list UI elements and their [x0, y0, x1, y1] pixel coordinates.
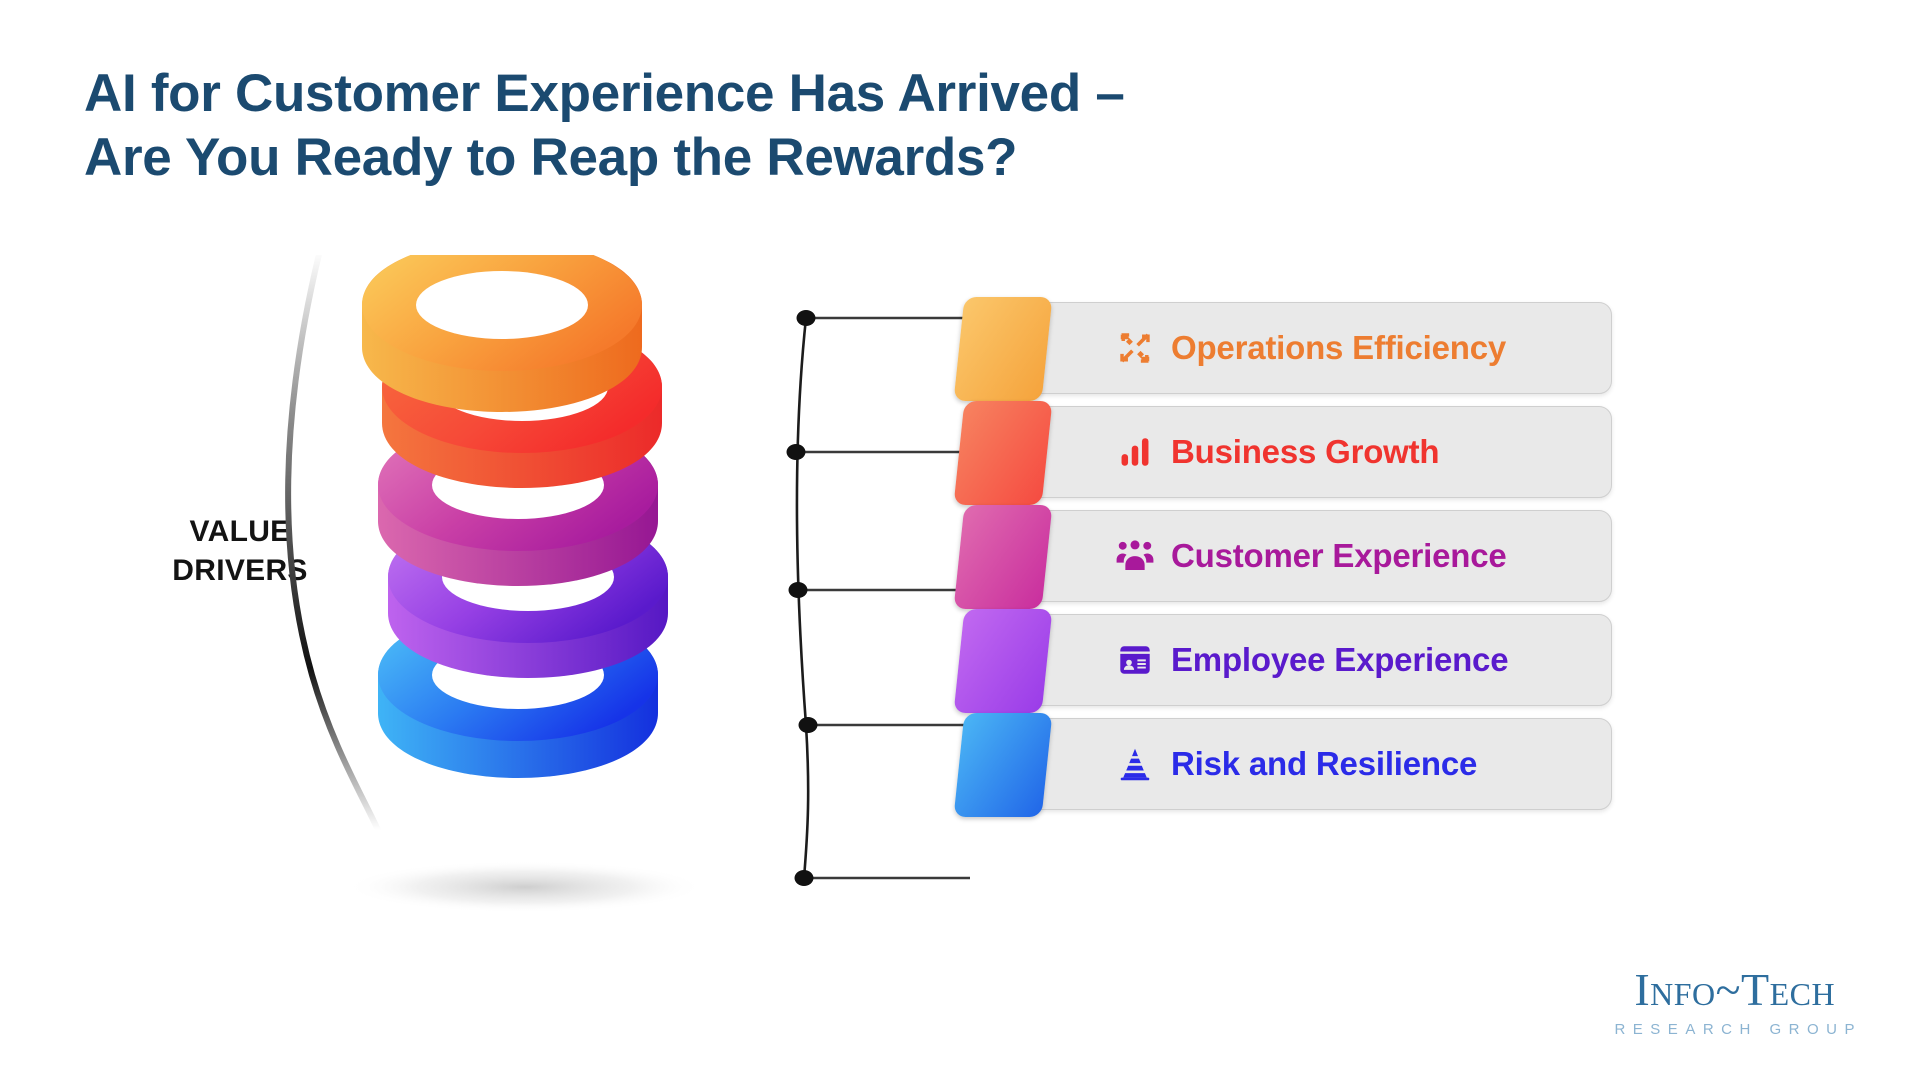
card-color-tab [954, 713, 1053, 817]
card-label: Business Growth [1171, 433, 1439, 471]
connector-dot-3 [789, 582, 808, 598]
card-label: Employee Experience [1171, 641, 1508, 679]
value-driver-card-business-growth[interactable]: Business Growth [992, 406, 1612, 498]
value-driver-card-employee-experience[interactable]: Employee Experience [992, 614, 1612, 706]
ring-orange [362, 255, 642, 412]
users-group-icon [1115, 536, 1155, 576]
card-label: Operations Efficiency [1171, 329, 1506, 367]
card-color-tab [954, 297, 1053, 401]
sync-arrows-icon [1115, 328, 1155, 368]
card-color-tab [954, 505, 1053, 609]
bar-chart-icon [1115, 432, 1155, 472]
value-driver-card-risk-and-resilience[interactable]: Risk and Resilience [992, 718, 1612, 810]
value-driver-card-list: Operations Efficiency Business Growth [956, 302, 1616, 922]
card-label: Customer Experience [1171, 537, 1507, 575]
logo-tagline: RESEARCH GROUP [1607, 1021, 1862, 1038]
page-title: AI for Customer Experience Has Arrived –… [84, 62, 1424, 189]
traffic-cone-icon [1115, 744, 1155, 784]
value-driver-card-customer-experience[interactable]: Customer Experience [992, 510, 1612, 602]
card-color-tab [954, 609, 1053, 713]
id-badge-icon [1115, 640, 1155, 680]
card-color-tab [954, 401, 1053, 505]
connector-spine [797, 318, 808, 878]
connector-dot-5 [795, 870, 814, 886]
connector-dot-1 [797, 310, 816, 326]
info-tech-logo: Info~Tech RESEARCH GROUP [1607, 967, 1862, 1038]
logo-wordmark: Info~Tech [1607, 967, 1862, 1013]
connector-dot-4 [799, 717, 818, 733]
value-drivers-helix-graphic [270, 255, 740, 955]
connector-dot-2 [787, 444, 806, 460]
value-driver-card-operations-efficiency[interactable]: Operations Efficiency [992, 302, 1612, 394]
card-label: Risk and Resilience [1171, 745, 1477, 783]
slide-canvas: AI for Customer Experience Has Arrived –… [0, 0, 1920, 1080]
